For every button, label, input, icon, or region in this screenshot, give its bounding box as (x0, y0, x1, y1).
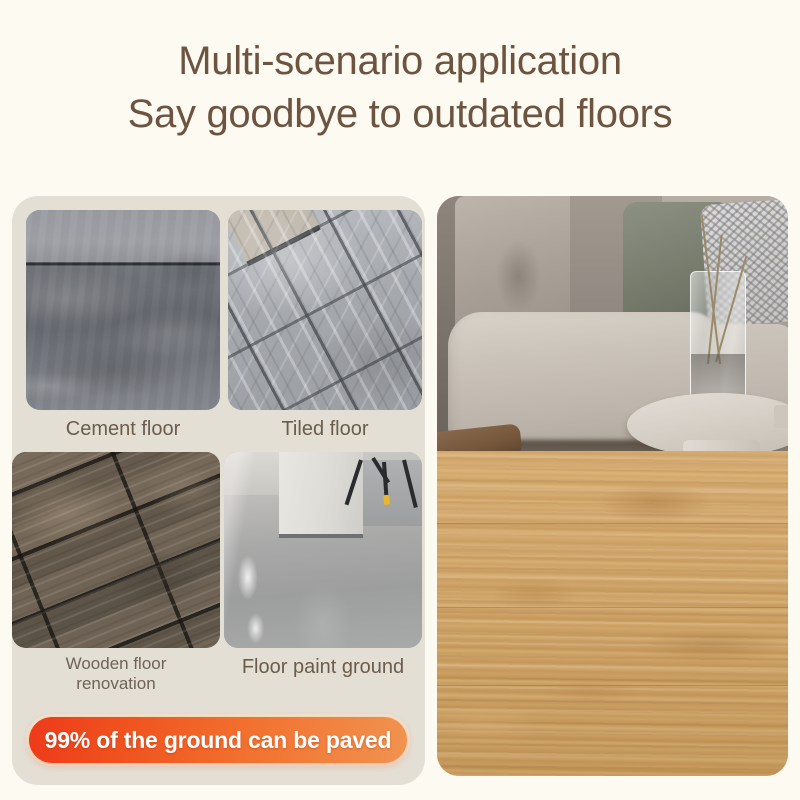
wooden-floor-thumbnail[interactable] (12, 452, 220, 648)
wooden-floor-image (12, 452, 220, 648)
floor-plank-seam-2 (437, 607, 788, 608)
scenario-item-wooden-floor[interactable]: Wooden floor renovation (12, 452, 220, 652)
headline-line-2: Say goodbye to outdated floors (0, 91, 800, 138)
coverage-badge-label: 99% of the ground can be paved (45, 727, 392, 754)
floor-plank-seam-1 (437, 523, 788, 524)
scenario-item-floor-paint[interactable]: Floor paint ground (224, 452, 422, 652)
headline-line-1: Multi-scenario application (0, 38, 800, 85)
wooden-floor-label-line2: renovation (12, 674, 220, 693)
tiled-floor-thumbnail[interactable] (228, 210, 422, 410)
cement-floor-thumbnail[interactable] (26, 210, 220, 410)
scenario-item-tiled-floor[interactable]: Tiled floor (228, 210, 422, 455)
floor-plank-seam-3 (437, 685, 788, 686)
wood-grain (12, 452, 220, 648)
floor-paint-image (224, 452, 422, 648)
coverage-badge[interactable]: 99% of the ground can be paved (29, 717, 407, 763)
scenario-card: Cement floor Tiled floor (12, 196, 425, 785)
living-room-photo (437, 196, 788, 776)
tile-sheen (228, 210, 422, 410)
scenario-item-cement-floor[interactable]: Cement floor (26, 210, 220, 455)
page-title: Multi-scenario application Say goodbye t… (0, 38, 800, 138)
cement-floor-label: Cement floor (26, 418, 220, 440)
glass-vase (690, 271, 746, 404)
oak-wood-floor (437, 451, 788, 776)
coffee-table-edge (774, 405, 788, 428)
floor-paint-thumbnail[interactable] (224, 452, 422, 648)
cement-floor-image (26, 210, 220, 410)
epoxy-reflections (224, 452, 422, 648)
wooden-floor-label-line1: Wooden floor (12, 654, 220, 673)
floor-paint-label: Floor paint ground (224, 656, 422, 678)
tiled-floor-label: Tiled floor (228, 418, 422, 440)
branch-3 (715, 256, 747, 362)
tiled-floor-image (228, 210, 422, 410)
